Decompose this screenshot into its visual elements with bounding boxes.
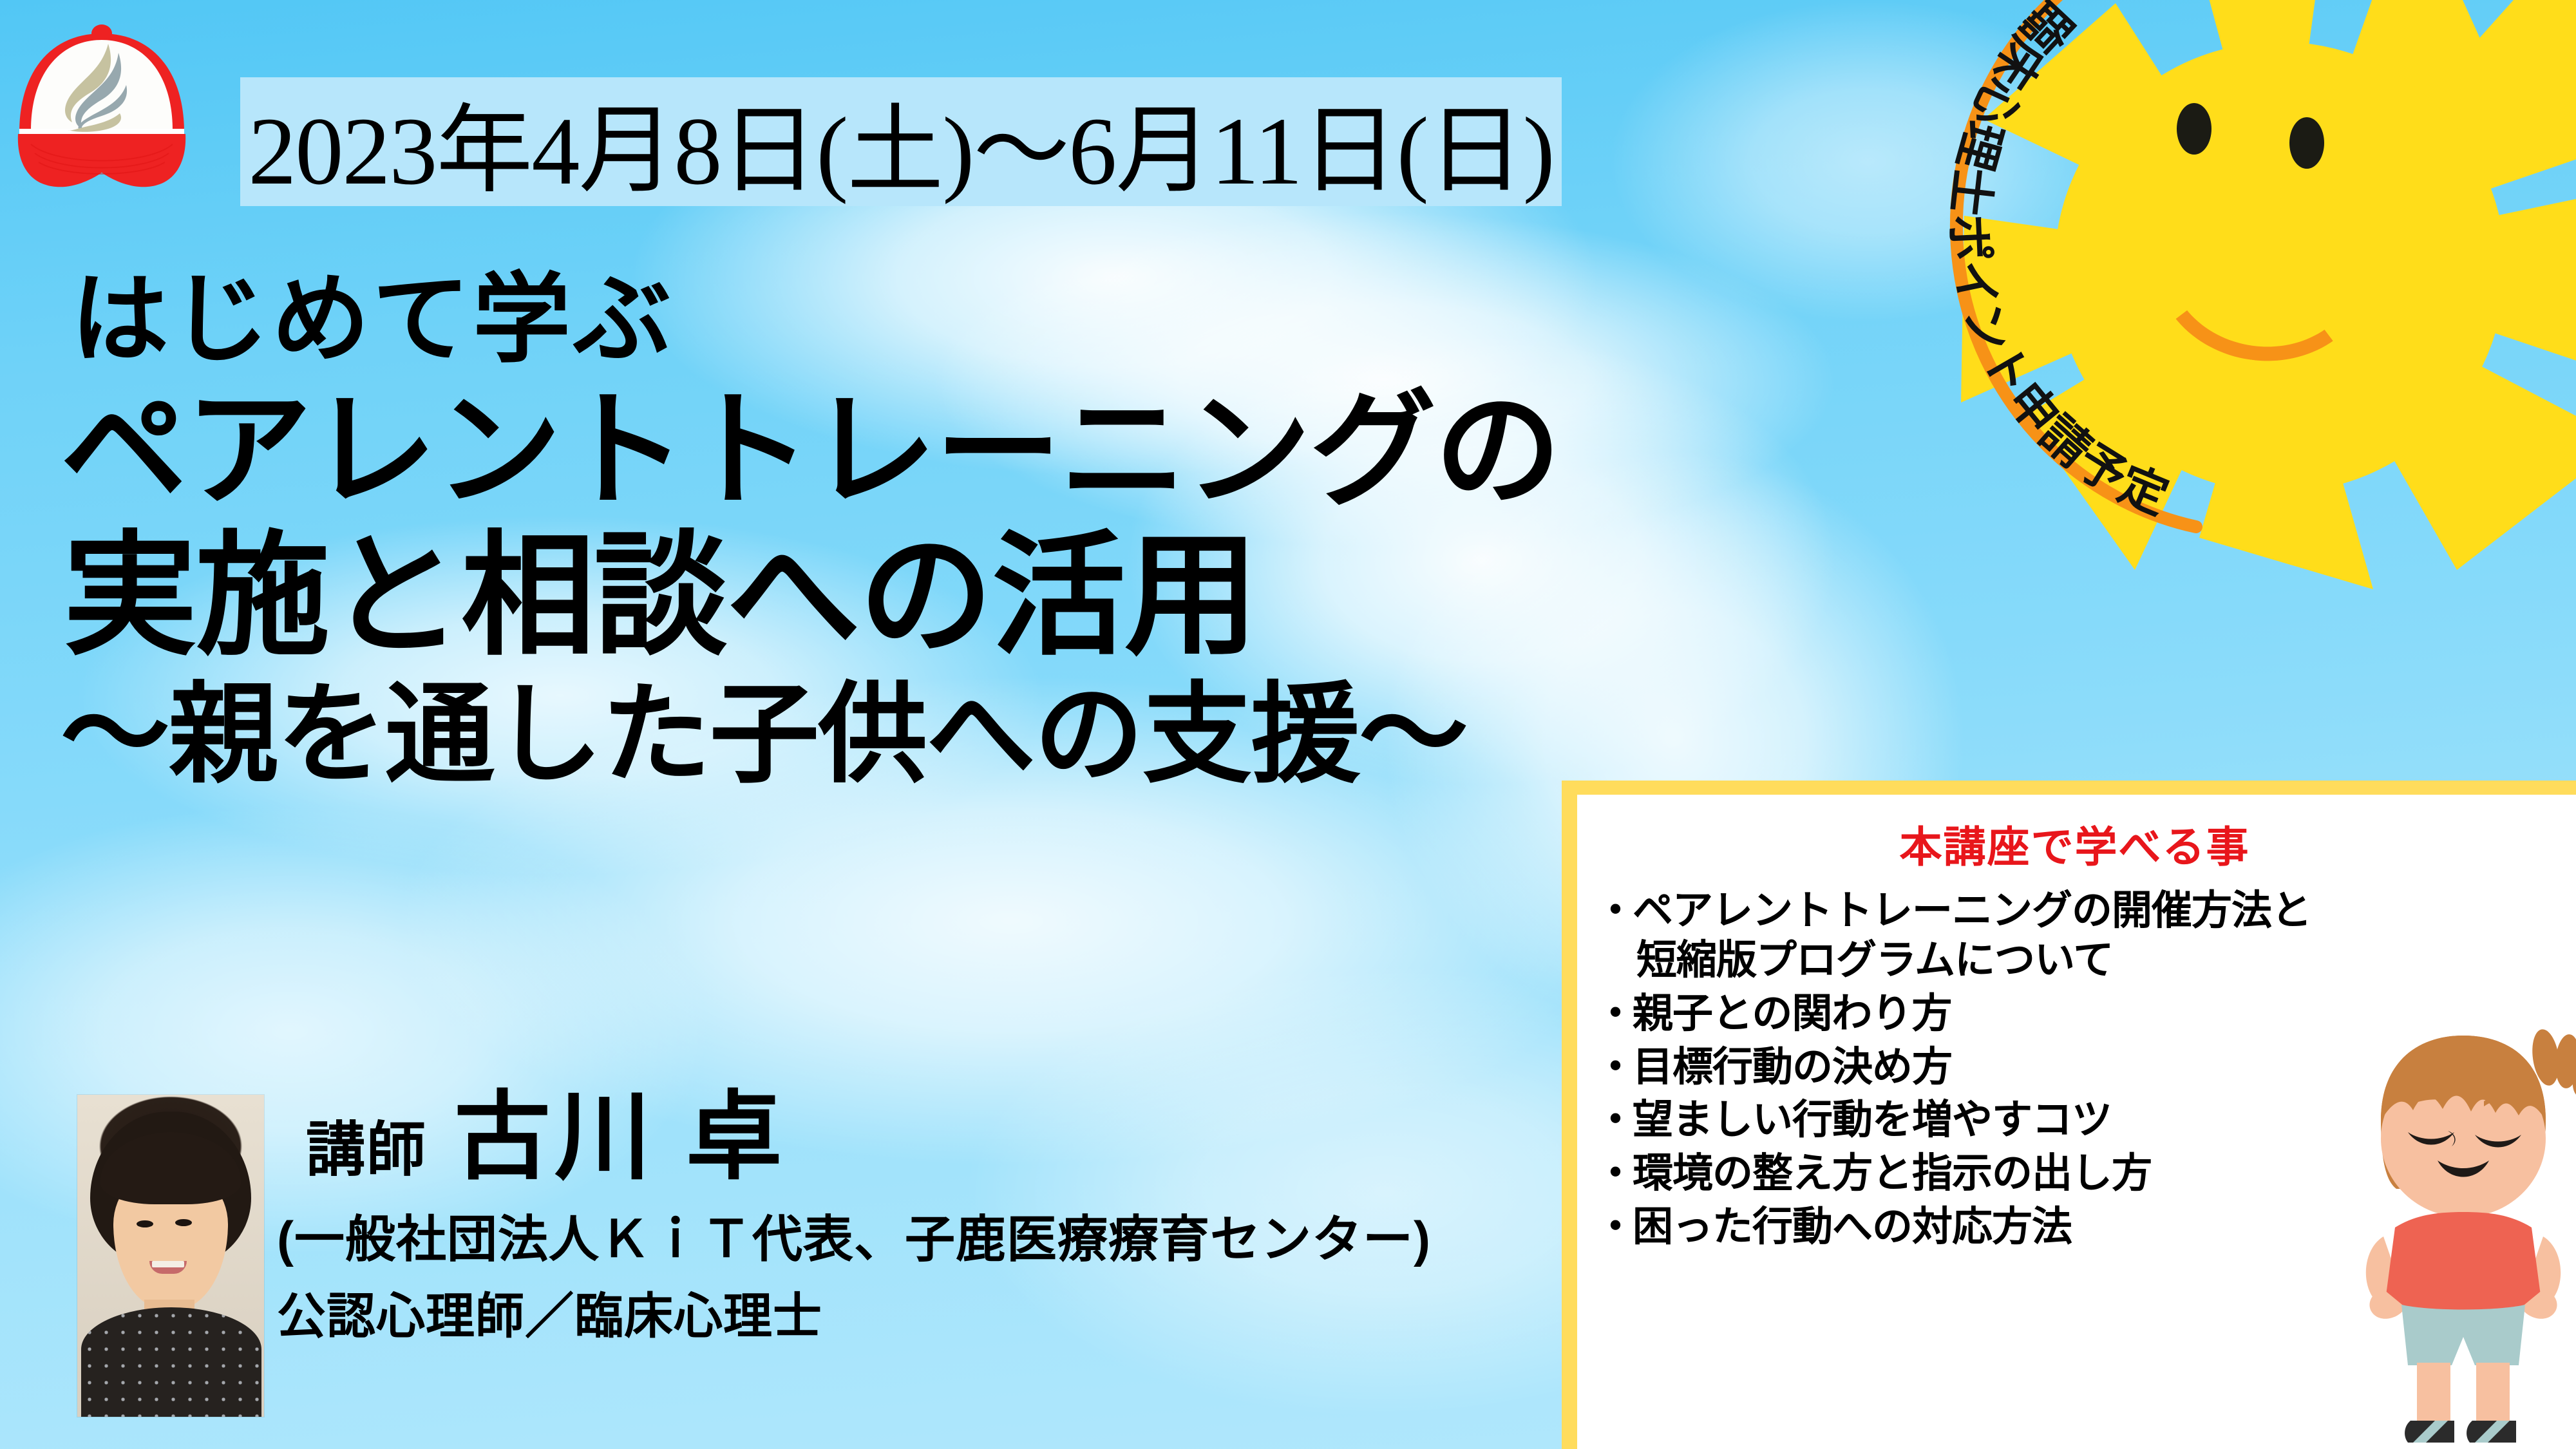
list-item-line1: ペアレントトレーニングの開催方法と [1633, 888, 2311, 933]
title-line-3: 実施と相談への活用 [63, 529, 1610, 663]
learning-points-list: ペアレントトレーニングの開催方法と 短縮版プログラムについて 親子との関わり方 … [1599, 886, 2550, 1252]
list-item: 困った行動への対応方法 [1599, 1202, 2550, 1252]
instructor-block: 講師 古川 卓 (一般社団法人ＫｉＴ代表、子鹿医療療育センター) 公認心理師／臨… [77, 1088, 1546, 1436]
learning-points-panel: 本講座で学べる事 ペアレントトレーニングの開催方法と 短縮版プログラムについて … [1562, 781, 2576, 1449]
title-line-4: 〜親を通した子供への支援〜 [61, 680, 1610, 790]
panel-title: 本講座で学べる事 [1599, 813, 2550, 875]
instructor-portrait-photo [77, 1095, 264, 1417]
title-line-2: ペアレントトレーニングの [61, 388, 1610, 514]
date-text: 2023年4月8日(土)〜6月11日(日) [248, 72, 1553, 212]
list-item: ペアレントトレーニングの開催方法と 短縮版プログラムについて [1599, 886, 2550, 985]
instructor-qualification: 公認心理師／臨床心理士 [277, 1276, 822, 1347]
list-item-line1: 困った行動への対応方法 [1633, 1204, 2072, 1249]
title-line-1: はじめて学ぶ [71, 270, 1610, 368]
list-item-line1: 望ましい行動を増やすコツ [1633, 1097, 2112, 1142]
date-banner: 2023年4月8日(土)〜6月11日(日) [240, 77, 1562, 206]
baseball-cap-logo-icon [5, 6, 198, 200]
instructor-label: 講師 [306, 1121, 427, 1185]
list-item: 目標行動の決め方 [1599, 1043, 2550, 1092]
list-item: 望ましい行動を増やすコツ [1599, 1095, 2550, 1145]
instructor-name-row: 講師 古川 卓 [306, 1088, 786, 1185]
list-item-line1: 環境の整え方と指示の出し方 [1633, 1151, 2152, 1196]
badge-text: 臨床心理士ポイント申請予定 [1941, 0, 2177, 525]
title-block: はじめて学ぶ ペアレントトレーニングの 実施と相談への活用 〜親を通した子供への… [64, 270, 1610, 790]
learning-points-inner: 本講座で学べる事 ペアレントトレーニングの開催方法と 短縮版プログラムについて … [1577, 795, 2576, 1449]
poster-root: 臨床心理士ポイント申請予定 2023年4月8日(土)〜6月11日(日) はじめて… [0, 0, 2576, 1449]
instructor-affiliation: (一般社団法人ＫｉＴ代表、子鹿医療療育センター) [277, 1199, 1431, 1271]
list-item-line2: 短縮版プログラムについて [1633, 936, 2550, 985]
list-item-line1: 目標行動の決め方 [1633, 1045, 1952, 1090]
badge-arc-text: 臨床心理士ポイント申請予定 [1919, 0, 2576, 592]
instructor-name: 古川 卓 [454, 1088, 786, 1185]
list-item: 環境の整え方と指示の出し方 [1599, 1149, 2550, 1198]
list-item: 親子との関わり方 [1599, 989, 2550, 1039]
list-item-line1: 親子との関わり方 [1633, 991, 1951, 1036]
